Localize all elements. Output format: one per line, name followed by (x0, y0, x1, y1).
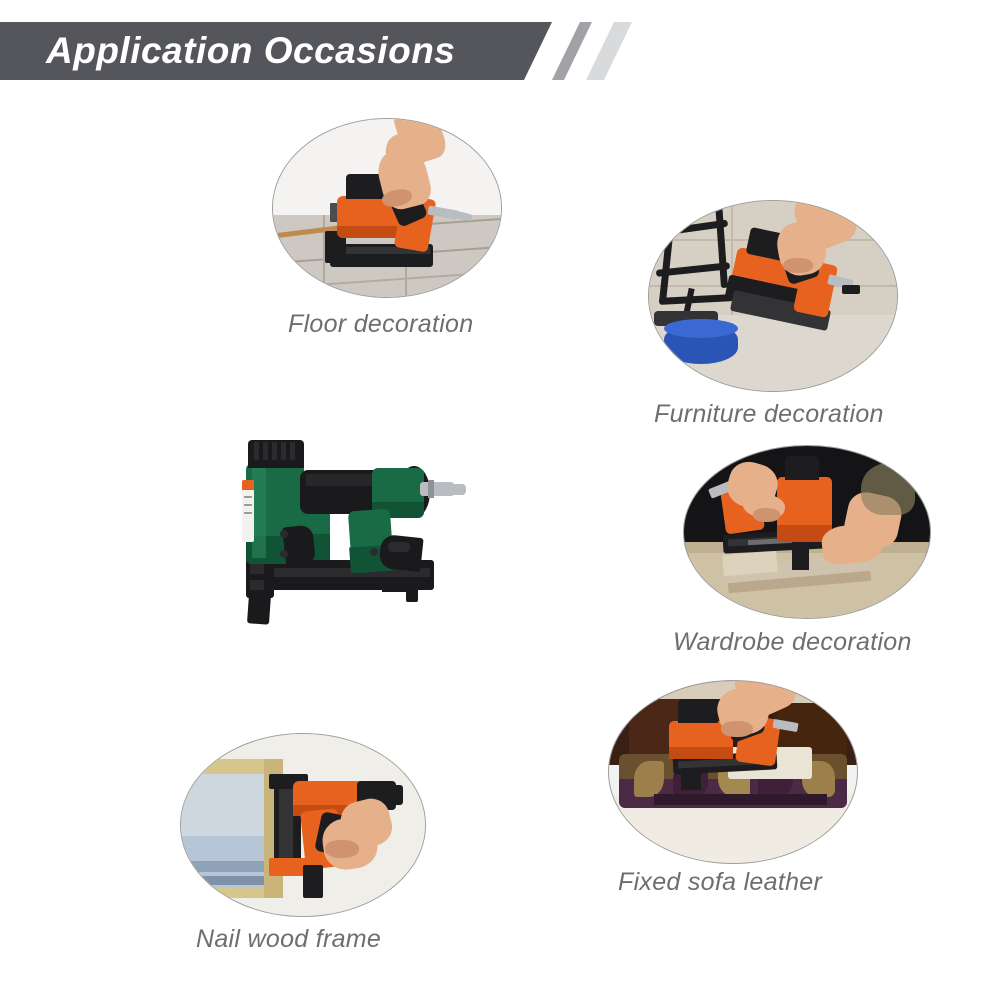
caption-wardrobe-decoration: Wardrobe decoration (673, 628, 912, 657)
photo-wardrobe-decoration (683, 445, 931, 619)
caption-floor-decoration: Floor decoration (288, 310, 473, 339)
showcase-item-fixed-sofa-leather: Fixed sofa leather (608, 680, 858, 880)
scene-wardrobe-decoration (684, 446, 930, 618)
banner-accent-stripe-2 (586, 22, 632, 80)
showcase-item-nail-wood-frame: Nail wood frame (180, 733, 426, 943)
scene-furniture-decoration (649, 201, 897, 391)
photo-furniture-decoration (648, 200, 898, 392)
scene-fixed-sofa-leather (609, 681, 857, 863)
showcase-item-floor-decoration: Floor decoration (272, 118, 502, 298)
showcase-item-furniture-decoration: Furniture decoration (648, 200, 898, 400)
caption-fixed-sofa-leather: Fixed sofa leather (618, 868, 822, 897)
scene-floor-decoration (273, 119, 501, 297)
header-banner: Application Occasions (0, 22, 1000, 80)
product-photo-nail-gun (222, 418, 490, 630)
photo-fixed-sofa-leather (608, 680, 858, 864)
photo-nail-wood-frame (180, 733, 426, 917)
scene-nail-wood-frame (181, 734, 425, 916)
banner-accent-stripe-1 (552, 22, 592, 80)
photo-floor-decoration (272, 118, 502, 298)
caption-furniture-decoration: Furniture decoration (654, 400, 884, 429)
page-title: Application Occasions (46, 30, 455, 72)
caption-nail-wood-frame: Nail wood frame (196, 925, 381, 954)
showcase-item-wardrobe-decoration: Wardrobe decoration (683, 445, 931, 645)
product-feature-page: Application Occasions (0, 0, 1000, 1000)
